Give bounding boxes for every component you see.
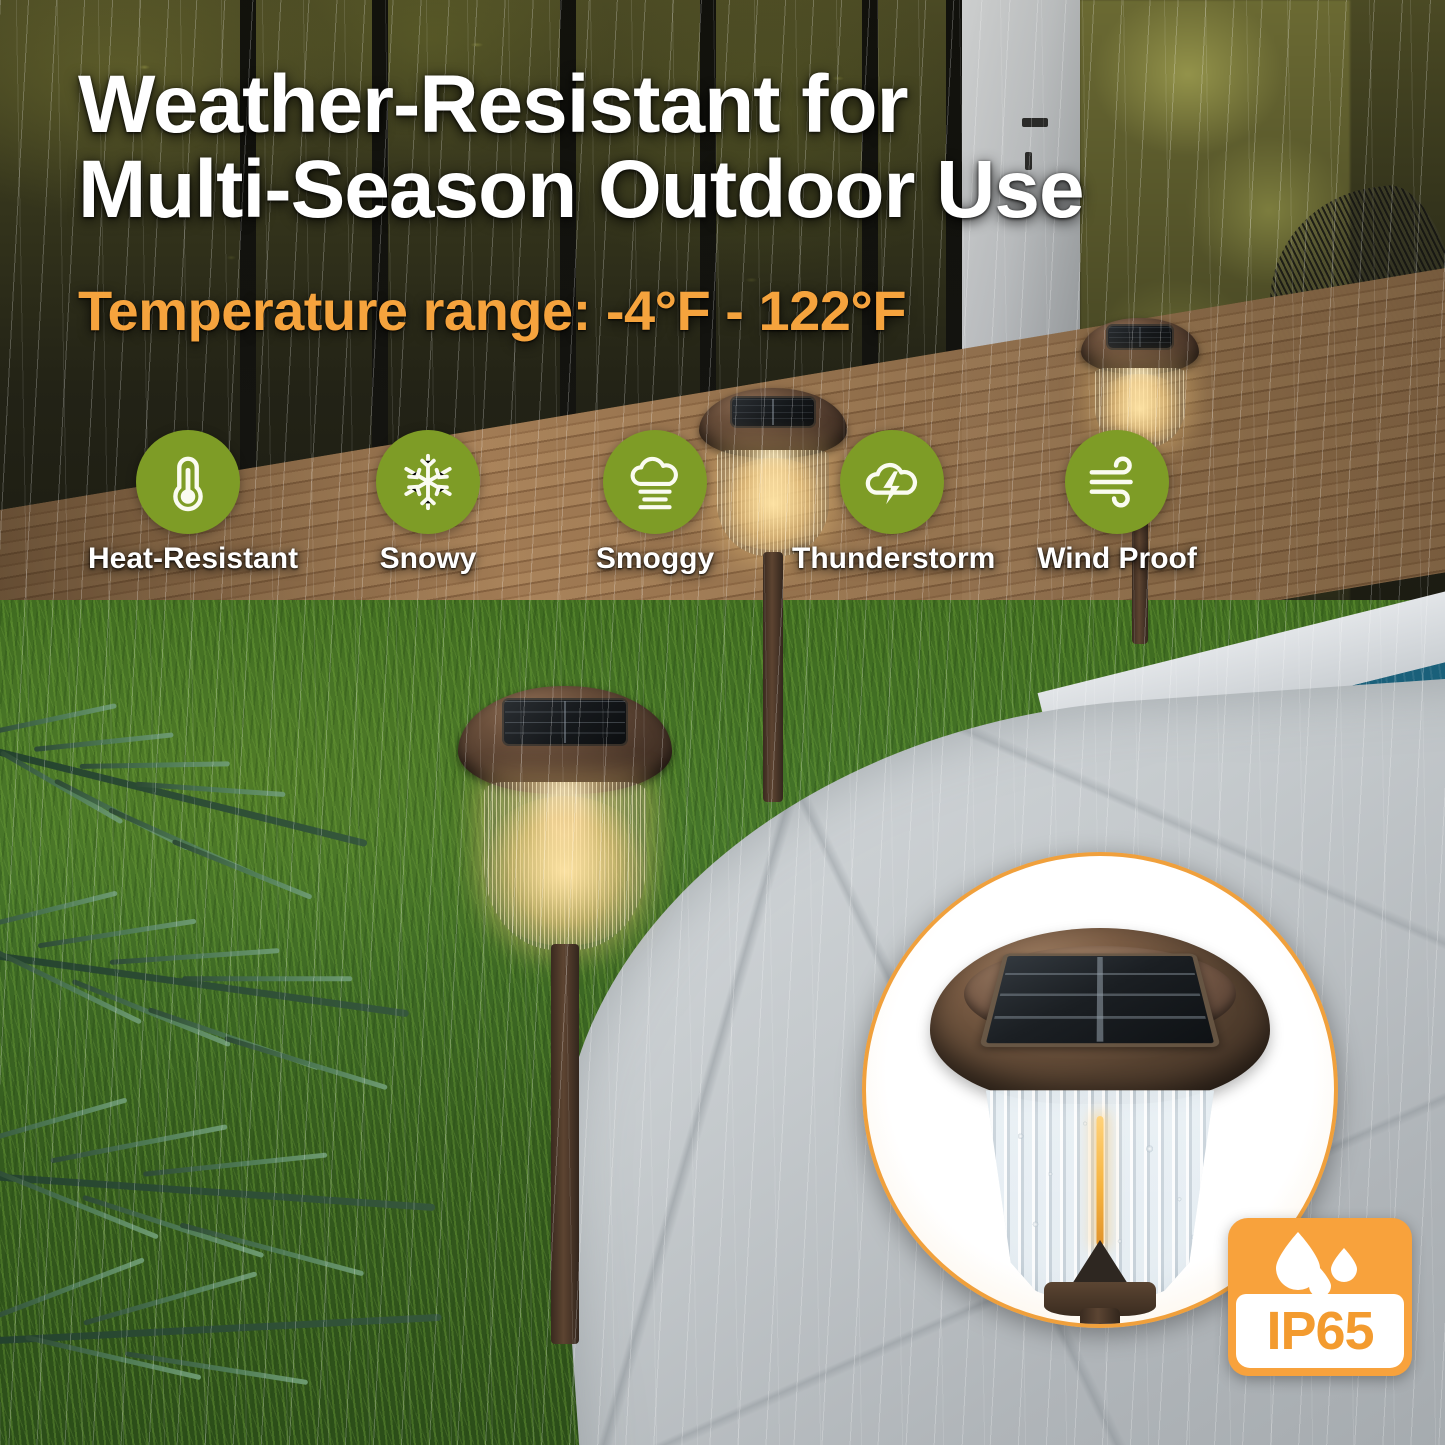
feature-badge-label: Heat-Resistant [88, 542, 288, 576]
feature-badge-label: Thunderstorm [792, 542, 992, 576]
headline-line-2: Multi-Season Outdoor Use [78, 147, 1228, 232]
feature-badge-row: Heat-Resistant Snowy [0, 430, 1290, 590]
ip65-label-band: IP65 [1236, 1294, 1404, 1368]
solar-light-foreground [440, 686, 690, 1346]
thermometer-icon [157, 451, 219, 513]
snowflake-icon [397, 451, 459, 513]
headline: Weather-Resistant for Multi-Season Outdo… [78, 62, 1228, 233]
feature-badge-circle [376, 430, 480, 534]
ip65-rating-badge: IP65 [1228, 1218, 1412, 1376]
feature-badge-label: Wind Proof [1017, 542, 1217, 576]
fog-cloud-icon [624, 451, 686, 513]
feature-badge-wind-proof: Wind Proof [1017, 430, 1217, 576]
shade-base-cone [1072, 1240, 1128, 1284]
water-drops-icon [1228, 1224, 1412, 1302]
feature-badge-snowy: Snowy [328, 430, 528, 576]
feature-badge-circle [1065, 430, 1169, 534]
feature-badge-circle [603, 430, 707, 534]
ip65-label: IP65 [1266, 1304, 1373, 1358]
feature-badge-thunderstorm: Thunderstorm [792, 430, 992, 576]
product-marketing-image: Weather-Resistant for Multi-Season Outdo… [0, 0, 1445, 1445]
feature-badge-label: Smoggy [555, 542, 755, 576]
headline-line-1: Weather-Resistant for [78, 62, 1228, 147]
temperature-range-text: Temperature range: -4°F - 122°F [78, 278, 1178, 343]
cloud-lightning-icon [861, 451, 923, 513]
feature-badge-circle [840, 430, 944, 534]
wind-icon [1086, 451, 1148, 513]
product-stake [1080, 1308, 1120, 1328]
feature-badge-label: Snowy [328, 542, 528, 576]
solar-panel [979, 954, 1220, 1048]
feature-badge-heat-resistant: Heat-Resistant [88, 430, 288, 576]
feature-badge-circle [136, 430, 240, 534]
feature-badge-smoggy: Smoggy [555, 430, 755, 576]
led-filament [1097, 1116, 1104, 1246]
